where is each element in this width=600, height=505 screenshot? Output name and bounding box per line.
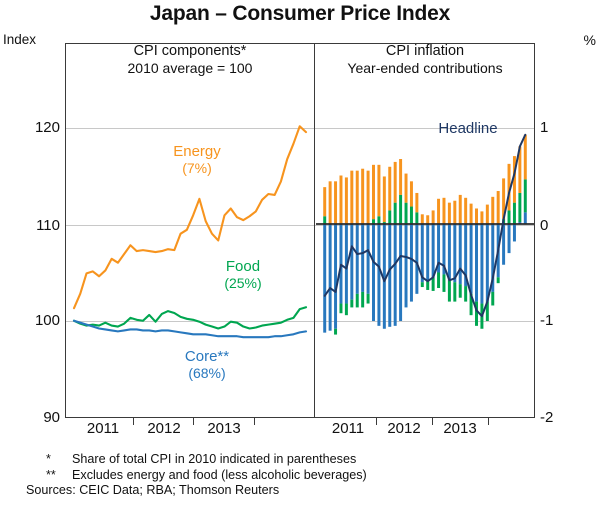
xlabel-right-2012: 2012 (374, 420, 434, 437)
series-label-energy-share: (7%) (152, 160, 242, 177)
series-label-core-share: (68%) (158, 365, 256, 382)
right-axis-unit: % (584, 32, 596, 48)
footnote-1-text: Share of total CPI in 2010 indicated in … (72, 452, 356, 468)
series-label-headline: Headline (428, 120, 508, 137)
footnote-2-marker: ** (46, 468, 72, 484)
xlabel-right-2013: 2013 (430, 420, 490, 437)
footnote-1: * Share of total CPI in 2010 indicated i… (46, 452, 367, 468)
left-ytick-120: 120 (35, 119, 60, 136)
right-ytick-0: 0 (540, 217, 548, 234)
left-ytick-100: 100 (35, 312, 60, 329)
series-label-food-share: (25%) (200, 275, 286, 292)
series-label-core-name: Core** (185, 348, 229, 365)
left-ytick-110: 110 (36, 217, 60, 234)
footnotes: * Share of total CPI in 2010 indicated i… (46, 452, 367, 499)
left-ytick-90: 90 (43, 409, 60, 426)
xlabel-right-2011: 2011 (318, 420, 378, 437)
page-title: Japan – Consumer Price Index (0, 2, 600, 26)
footnote-1-marker: * (46, 452, 72, 468)
left-axis-unit: Index (3, 32, 36, 47)
footnote-2: ** Excludes energy and food (less alcoho… (46, 468, 367, 484)
xlabel-left-2011: 2011 (73, 420, 133, 437)
chart-figure: Japan – Consumer Price Index Index % 120… (0, 0, 600, 505)
right-ytick-1: 1 (540, 119, 548, 136)
series-label-core: Core** (68%) (158, 348, 256, 382)
right-ytick-neg1: -1 (540, 312, 553, 329)
right-ytick-neg2: -2 (540, 409, 553, 426)
series-label-energy: Energy (7%) (152, 143, 242, 177)
series-label-food: Food (25%) (200, 258, 286, 292)
series-label-headline-name: Headline (438, 120, 497, 137)
series-label-energy-name: Energy (173, 143, 221, 160)
xlabel-left-2013: 2013 (194, 420, 254, 437)
right-series-svg (316, 43, 534, 418)
sources-line: Sources: CEIC Data; RBA; Thomson Reuters (26, 483, 367, 499)
series-label-food-name: Food (226, 258, 260, 275)
footnote-2-text: Excludes energy and food (less alcoholic… (72, 468, 367, 484)
xtick-left-2013 (254, 418, 255, 425)
xlabel-left-2012: 2012 (134, 420, 194, 437)
panel-cpi-inflation: CPI inflation Year-ended contributions (316, 43, 534, 418)
